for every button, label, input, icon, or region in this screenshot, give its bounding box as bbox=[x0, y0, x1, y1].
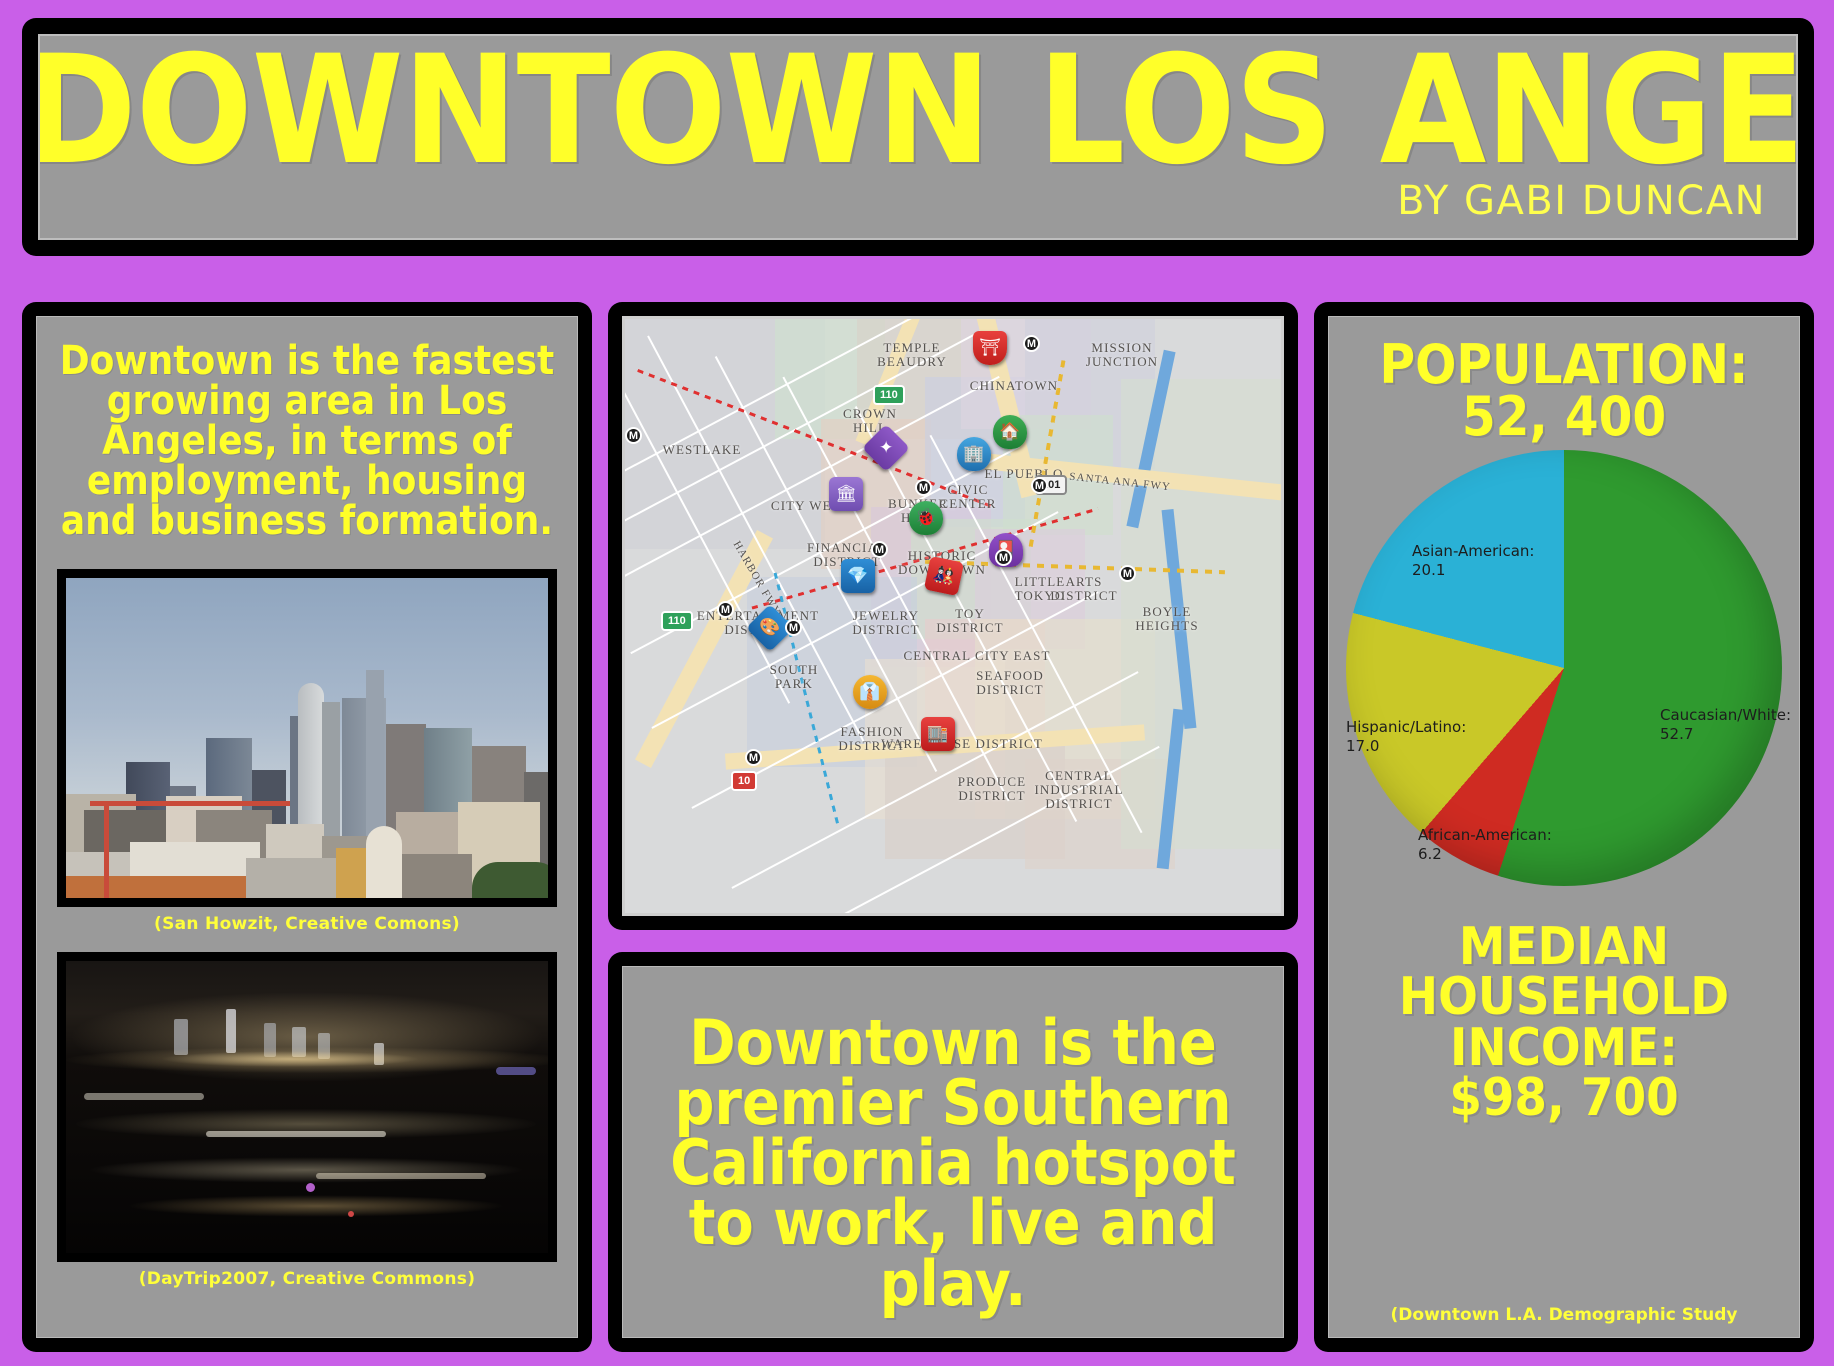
population-label: POPULATION: bbox=[1329, 339, 1799, 391]
bug-marker[interactable]: 🐞 bbox=[909, 501, 943, 535]
header-inner: DOWNTOWN LOS ANGELES BY GABI DUNCAN bbox=[38, 34, 1798, 240]
income-line-2: HOUSEHOLD bbox=[1329, 972, 1799, 1022]
stats-panel: POPULATION: 52, 400 Asian-American: 20.1… bbox=[1314, 302, 1814, 1352]
nighttime-photo-caption: (DayTrip2007, Creative Commons) bbox=[37, 1262, 577, 1293]
tagline-panel: Downtown is the premier Southern Califor… bbox=[608, 952, 1298, 1352]
daytime-photo-caption: (San Howzit, Creative Comons) bbox=[37, 907, 577, 938]
metro-stop-icon[interactable]: M bbox=[1023, 335, 1040, 352]
pie-label-asian-american: Asian-American: 20.1 bbox=[1412, 542, 1534, 580]
left-panel-inner: Downtown is the fastest growing area in … bbox=[36, 316, 578, 1338]
growth-statement-box: Downtown is the fastest growing area in … bbox=[49, 331, 565, 555]
demographics-pie-chart: Asian-American: 20.1 Hispanic/Latino: 17… bbox=[1334, 450, 1794, 912]
map-panel[interactable]: TEMPLE BEAUDRY CROWN HILL WESTLAKE CITY … bbox=[608, 302, 1298, 930]
tagline-text: Downtown is the premier Southern Califor… bbox=[623, 967, 1283, 1314]
map-panel-inner[interactable]: TEMPLE BEAUDRY CROWN HILL WESTLAKE CITY … bbox=[622, 316, 1284, 916]
pie-label-hispanic-latino: Hispanic/Latino: 17.0 bbox=[1346, 718, 1466, 756]
metro-stop-icon[interactable]: M bbox=[717, 601, 734, 618]
museum-marker[interactable]: 🏛 bbox=[829, 477, 863, 511]
warehouse-marker[interactable]: 🏬 bbox=[921, 717, 955, 751]
metro-stop-icon[interactable]: M bbox=[995, 549, 1012, 566]
pie-label-caucasian-white: Caucasian/White: 52.7 bbox=[1660, 706, 1791, 744]
population-heading-block: POPULATION: 52, 400 bbox=[1329, 317, 1799, 444]
fashion-marker[interactable]: 👔 bbox=[853, 675, 887, 709]
daytime-skyline-photo bbox=[66, 578, 548, 898]
metro-stop-icon[interactable]: M bbox=[1119, 565, 1136, 582]
el-pueblo-marker[interactable]: 🏠 bbox=[993, 415, 1027, 449]
daytime-photo-frame bbox=[57, 569, 557, 907]
demographic-source-note: (Downtown L.A. Demographic Study bbox=[1329, 1305, 1799, 1325]
metro-stop-icon[interactable]: M bbox=[785, 619, 802, 636]
downtown-la-map[interactable]: TEMPLE BEAUDRY CROWN HILL WESTLAKE CITY … bbox=[625, 319, 1281, 913]
chinatown-gate-marker[interactable]: ⛩ bbox=[973, 331, 1007, 365]
highway-shield-110-north: 110 bbox=[873, 385, 905, 405]
highway-shield-110-south: 110 bbox=[661, 611, 693, 631]
capitol-records-marker[interactable]: 🏢 bbox=[957, 437, 991, 471]
header-panel: DOWNTOWN LOS ANGELES BY GABI DUNCAN bbox=[22, 18, 1814, 256]
metro-stop-icon[interactable]: M bbox=[745, 749, 762, 766]
pie-label-african-american: African-American: 6.2 bbox=[1418, 826, 1552, 864]
income-line-3: INCOME: bbox=[1329, 1023, 1799, 1073]
byline: BY GABI DUNCAN bbox=[1397, 178, 1766, 224]
left-content-panel: Downtown is the fastest growing area in … bbox=[22, 302, 592, 1352]
nighttime-photo-frame bbox=[57, 952, 557, 1262]
metro-stop-icon[interactable]: M bbox=[625, 427, 642, 444]
highway-shield-10: 10 bbox=[731, 771, 757, 791]
metro-stop-icon[interactable]: M bbox=[871, 541, 888, 558]
income-line-1: MEDIAN bbox=[1329, 922, 1799, 972]
nighttime-skyline-photo bbox=[66, 961, 548, 1253]
poster-root: DOWNTOWN LOS ANGELES BY GABI DUNCAN Down… bbox=[0, 0, 1834, 1366]
income-value: $98, 700 bbox=[1329, 1073, 1799, 1123]
metro-stop-icon[interactable]: M bbox=[1031, 477, 1048, 494]
tagline-panel-inner: Downtown is the premier Southern Califor… bbox=[622, 966, 1284, 1338]
page-title: DOWNTOWN LOS ANGELES bbox=[38, 42, 1798, 182]
population-value: 52, 400 bbox=[1329, 391, 1799, 443]
stats-panel-inner: POPULATION: 52, 400 Asian-American: 20.1… bbox=[1328, 316, 1800, 1338]
metro-stop-icon[interactable]: M bbox=[915, 479, 932, 496]
toy-marker[interactable]: 🎎 bbox=[924, 556, 964, 596]
growth-statement-text: Downtown is the fastest growing area in … bbox=[55, 341, 559, 541]
jewelry-marker[interactable]: 💎 bbox=[841, 559, 875, 593]
income-heading-block: MEDIAN HOUSEHOLD INCOME: $98, 700 bbox=[1329, 912, 1799, 1124]
pie-disc bbox=[1346, 450, 1782, 886]
